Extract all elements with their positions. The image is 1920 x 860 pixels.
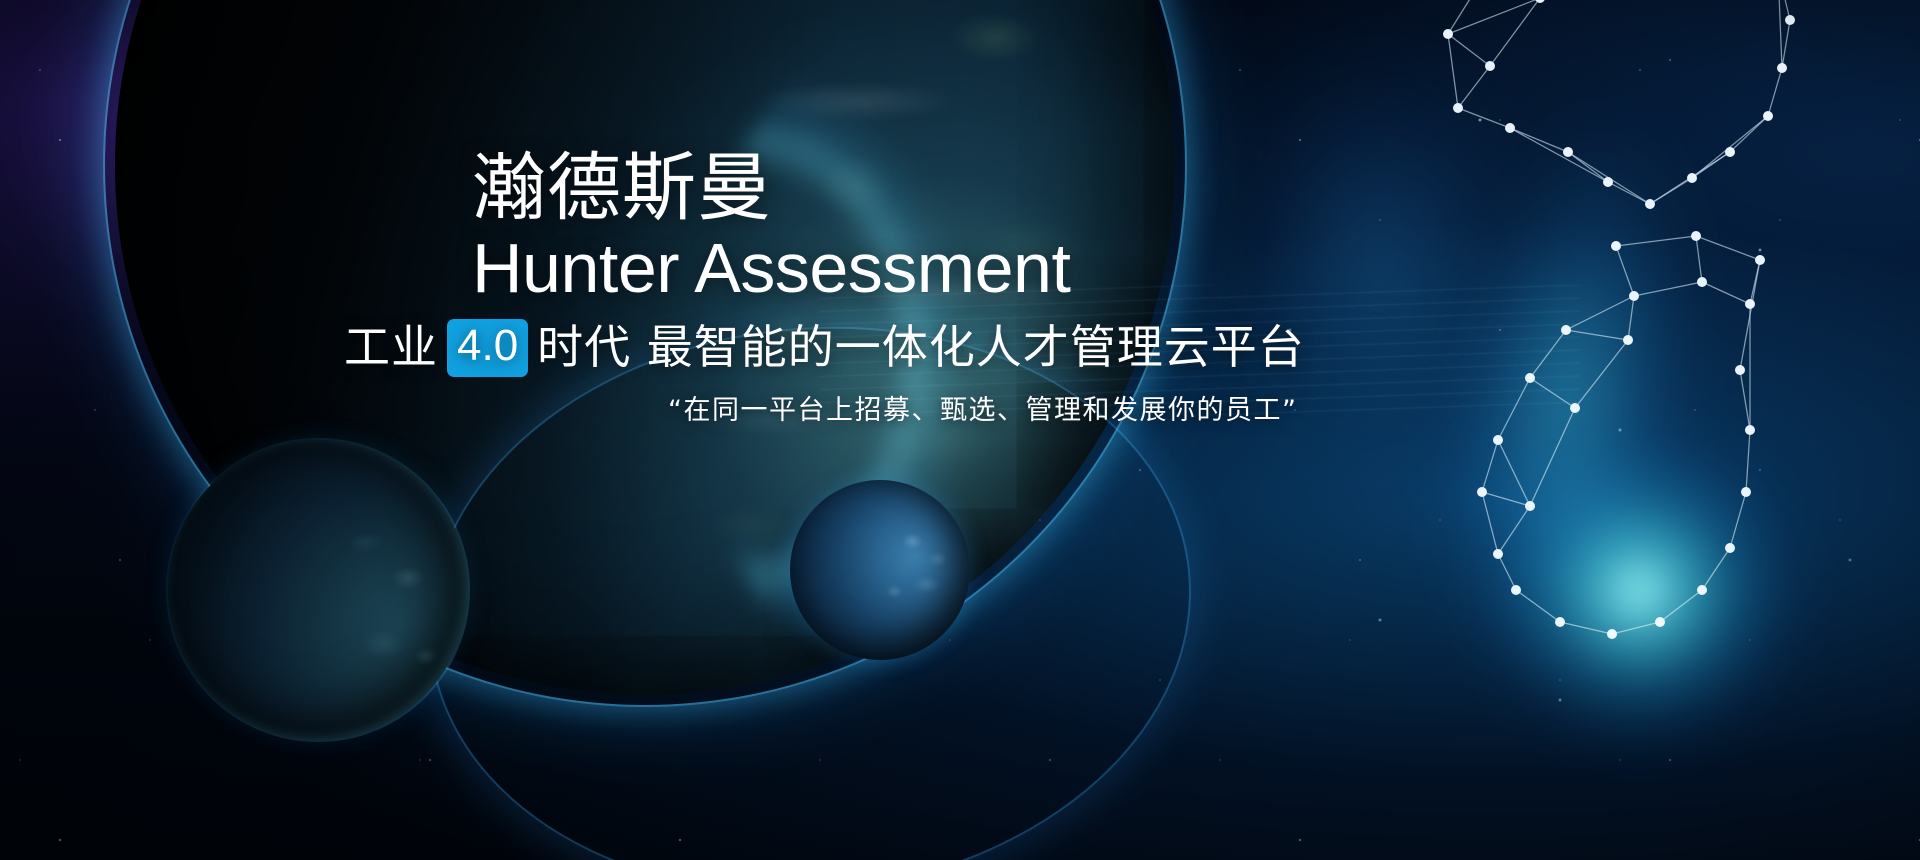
tagline-prefix: 工业 — [344, 322, 438, 374]
hero-banner-stage: 瀚德斯曼 Hunter Assessment 工业 4.0 时代 最智能的一体化… — [0, 0, 1920, 860]
industry-version-badge: 4.0 — [447, 319, 528, 377]
tagline-suffix: 时代 最智能的一体化人才管理云平台 — [537, 322, 1305, 374]
hero-text-block: 瀚德斯曼 Hunter Assessment 工业 4.0 时代 最智能的一体化… — [472, 150, 1472, 428]
tagline: 工业 4.0 时代 最智能的一体化人才管理云平台 — [344, 319, 1472, 377]
small-moon-craters — [790, 480, 970, 660]
brand-name-chinese: 瀚德斯曼 — [472, 150, 1472, 227]
constellation-ring-top-right — [1430, 0, 1850, 260]
brand-name-english: Hunter Assessment — [472, 231, 1472, 305]
small-moon-bottom — [790, 480, 970, 660]
tagline-quote: “在同一平台上招募、甄选、管理和发展你的员工” — [668, 393, 1472, 428]
moon-left-rim-light — [166, 438, 470, 742]
